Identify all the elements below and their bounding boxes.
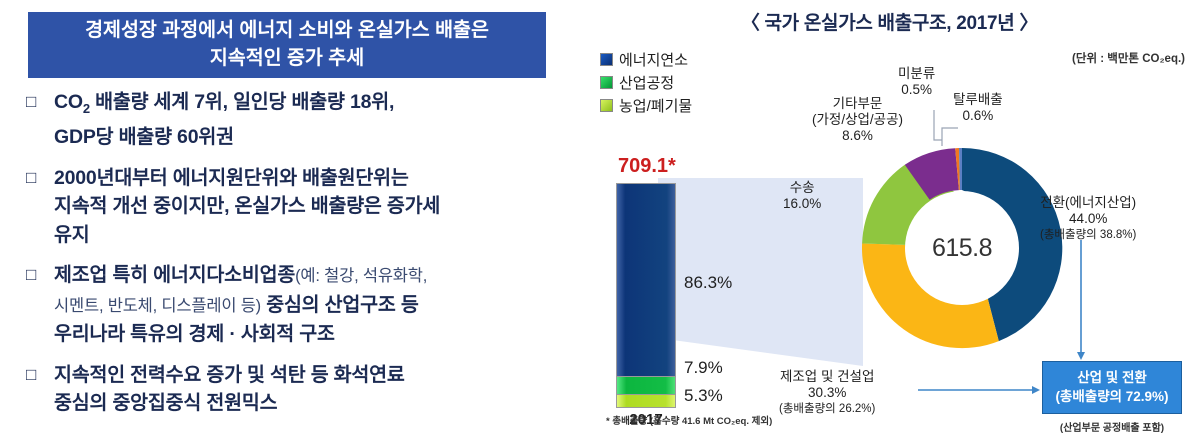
bullet-3-line2: 중심의 산업구조 등 [261, 294, 419, 316]
callout-subnote: (산업부문 공정배출 포함) [1042, 419, 1182, 434]
legend-label: 에너지연소 [619, 49, 688, 70]
bullet-list: □ CO2 배출량 세계 7위, 일인당 배출량 18위, GDP당 배출량 6… [26, 88, 578, 430]
donut-label-name: 미분류 [898, 66, 935, 82]
donut-label-share: (총배출량의 26.2%) [779, 401, 875, 417]
bullet-2-line1: 2000년대부터 에너지원단위와 배출원단위는 [54, 167, 409, 189]
bar-segment-energy-combustion [617, 184, 675, 376]
chart-legend: 에너지연소 산업공정 농업/폐기물 [600, 48, 692, 117]
bullet-item-3: □ 제조업 특히 에너지다소비업종(예: 철강, 석유화학, 시멘트, 반도체,… [26, 261, 578, 349]
donut-center-value: 615.8 [852, 138, 1072, 358]
donut-label-pct: 0.6% [953, 108, 1003, 124]
donut-label-manufacturing: 제조업 및 건설업 30.3% (총배출량의 26.2%) [779, 369, 875, 417]
donut-label-pct: 8.6% [812, 128, 903, 144]
bar-footnote: * 총배출량 (흡수량 41.6 Mt CO₂eq. 제외) [606, 413, 772, 427]
donut-label-name: 기타부문 [812, 96, 903, 112]
donut-label-name: 제조업 및 건설업 [779, 369, 875, 385]
bar-total-label: 709.1* [618, 155, 676, 178]
chart-panel: 〈 국가 온실가스 배출구조, 2017년 〉 에너지연소 산업공정 농업/폐기… [580, 0, 1199, 447]
donut-label-name: 탈루배출 [953, 92, 1003, 108]
bar-stack [616, 183, 676, 408]
bullet-3-paren-open: (예: 철강, 석유화학, [295, 267, 427, 285]
legend-item-energy-combustion: 에너지연소 [600, 48, 692, 71]
bullet-2-line2: 지속적 개선 중이지만, 온실가스 배출량은 증가세 [54, 195, 440, 217]
bullet-item-2: □ 2000년대부터 에너지원단위와 배출원단위는 지속적 개선 중이지만, 온… [26, 164, 578, 250]
bar-percent-industrial-process: 7.9% [684, 358, 723, 378]
bullet-marker-icon: □ [26, 361, 54, 389]
headline-line-2: 지속적인 증가 추세 [210, 45, 364, 73]
donut-label-unclassified: 미분류 0.5% [898, 66, 935, 98]
bullet-1-subscript: 2 [83, 101, 90, 116]
donut-chart: 615.8 [852, 138, 1072, 358]
donut-label-pct: 0.5% [898, 82, 935, 98]
bullet-3-line3: 우리나라 특유의 경제 · 사회적 구조 [54, 323, 335, 345]
donut-label-other-sectors: 기타부문 (가정/상업/공공) 8.6% [812, 96, 903, 144]
chart-unit-note: (단위 : 백만톤 CO₂eq.) [1072, 50, 1185, 66]
bullet-text-1: CO2 배출량 세계 7위, 일인당 배출량 18위, GDP당 배출량 60위… [54, 88, 394, 152]
legend-swatch-icon [600, 76, 613, 89]
bullet-1-co2: CO [54, 91, 83, 113]
bullet-item-4: □ 지속적인 전력수요 증가 및 석탄 등 화석연료 중심의 중앙집중식 전원믹… [26, 361, 578, 418]
bullet-4-line2: 중심의 중앙집중식 전원믹스 [54, 392, 277, 414]
bullet-text-2: 2000년대부터 에너지원단위와 배출원단위는 지속적 개선 중이지만, 온실가… [54, 164, 440, 250]
bullet-4-line1: 지속적인 전력수요 증가 및 석탄 등 화석연료 [54, 364, 405, 386]
bar-percent-agriculture-waste: 5.3% [684, 386, 723, 406]
legend-swatch-icon [600, 99, 613, 112]
bar-segment-fill [617, 184, 675, 376]
headline-banner: 경제성장 과정에서 에너지 소비와 온실가스 배출은 지속적인 증가 추세 [28, 12, 546, 78]
donut-label-conversion: 전환(에너지산업) 44.0% (총배출량의 38.8%) [1040, 195, 1136, 243]
donut-label-pct: 16.0% [783, 196, 821, 212]
bar-segment-fill [617, 394, 675, 407]
headline-line-1: 경제성장 과정에서 에너지 소비와 온실가스 배출은 [85, 17, 489, 45]
donut-label-share: (총배출량의 38.8%) [1040, 227, 1136, 243]
donut-label-name: 전환(에너지산업) [1040, 195, 1136, 211]
legend-label: 산업공정 [619, 72, 674, 93]
donut-label-transport: 수송 16.0% [783, 180, 821, 212]
bullet-3-paren-close: 시멘트, 반도체, 디스플레이 등) [54, 297, 261, 315]
bullet-text-4: 지속적인 전력수요 증가 및 석탄 등 화석연료 중심의 중앙집중식 전원믹스 [54, 361, 405, 418]
bar-segment-fill [617, 376, 675, 394]
chart-title: 〈 국가 온실가스 배출구조, 2017년 〉 [580, 8, 1199, 35]
legend-item-industrial-process: 산업공정 [600, 71, 692, 94]
donut-label-pct: 44.0% [1040, 211, 1136, 227]
donut-label-name: 수송 [783, 180, 821, 196]
bullet-1-line2: GDP당 배출량 60위권 [54, 126, 234, 148]
donut-label-fugitive: 탈루배출 0.6% [953, 92, 1003, 124]
bullet-1-line1: 배출량 세계 7위, 일인당 배출량 18위, [90, 91, 394, 113]
callout-box-industry-conversion: 산업 및 전환 (총배출량의 72.9%) [1042, 361, 1182, 414]
bar-segment-agriculture-waste [617, 394, 675, 407]
bar-segment-industrial-process [617, 376, 675, 394]
legend-label: 농업/폐기물 [619, 95, 692, 116]
donut-label-name-sub: (가정/상업/공공) [812, 112, 903, 128]
bullet-3-line1: 제조업 특히 에너지다소비업종 [54, 264, 295, 286]
bullet-item-1: □ CO2 배출량 세계 7위, 일인당 배출량 18위, GDP당 배출량 6… [26, 88, 578, 152]
donut-label-pct: 30.3% [779, 385, 875, 401]
callout-line-1: 산업 및 전환 [1047, 368, 1177, 387]
bullet-marker-icon: □ [26, 261, 54, 289]
bullet-text-3: 제조업 특히 에너지다소비업종(예: 철강, 석유화학, 시멘트, 반도체, 디… [54, 261, 427, 349]
legend-item-agriculture-waste: 농업/폐기물 [600, 94, 692, 117]
callout-line-2: (총배출량의 72.9%) [1047, 387, 1177, 406]
bullet-marker-icon: □ [26, 164, 54, 192]
bullet-marker-icon: □ [26, 88, 54, 116]
legend-swatch-icon [600, 53, 613, 66]
left-text-panel: 경제성장 과정에서 에너지 소비와 온실가스 배출은 지속적인 증가 추세 □ … [0, 0, 580, 447]
bar-percent-energy-combustion: 86.3% [684, 273, 732, 293]
bullet-2-line3: 유지 [54, 224, 89, 246]
